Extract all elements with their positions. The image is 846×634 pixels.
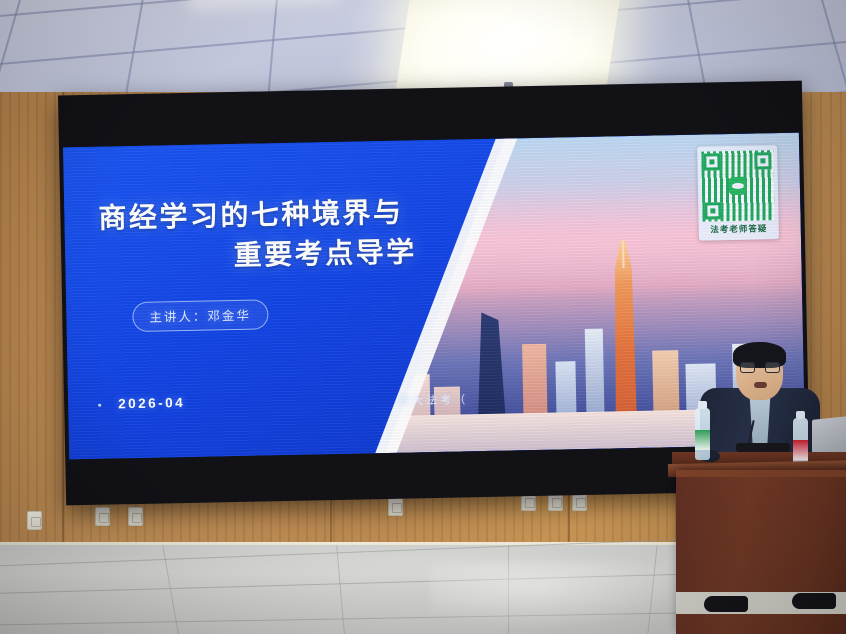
wall-outlet[interactable]: [388, 497, 403, 516]
microphone[interactable]: [736, 424, 790, 452]
slide-bullet-dot: [98, 404, 101, 407]
lecture-hall-photo: 商经学习的七种境界与 重要考点导学 主讲人：邓金华 2026-04 厚大法考（ …: [0, 0, 846, 634]
glasses-icon: [740, 362, 780, 373]
speaker-mouth: [754, 382, 767, 388]
presenter-badge: 主讲人：邓金华: [132, 299, 268, 332]
water-bottle-left[interactable]: [695, 408, 710, 460]
slide-title: 商经学习的七种境界与 重要考点导学: [98, 190, 530, 278]
speaker-shoe: [704, 596, 748, 612]
slide-brand-footer: 厚大法考（: [398, 391, 468, 408]
slide-date: 2026-04: [118, 395, 185, 411]
wall-outlet[interactable]: [128, 507, 143, 526]
slide-title-line1: 商经学习的七种境界与: [98, 197, 404, 234]
wechat-icon: [729, 177, 747, 195]
floor-reflection: [430, 560, 690, 630]
presentation-slide: 商经学习的七种境界与 重要考点导学 主讲人：邓金华 2026-04 厚大法考（ …: [63, 133, 805, 460]
wechat-qr-code-icon: [701, 150, 774, 221]
podium-floor-gap: [676, 592, 846, 614]
wall-outlet[interactable]: [27, 511, 42, 530]
speaker-shoe: [792, 593, 836, 609]
qr-caption: 法考老师答疑: [703, 222, 775, 235]
qr-card[interactable]: 法考老师答疑: [697, 145, 779, 241]
wall-outlet[interactable]: [95, 507, 110, 526]
